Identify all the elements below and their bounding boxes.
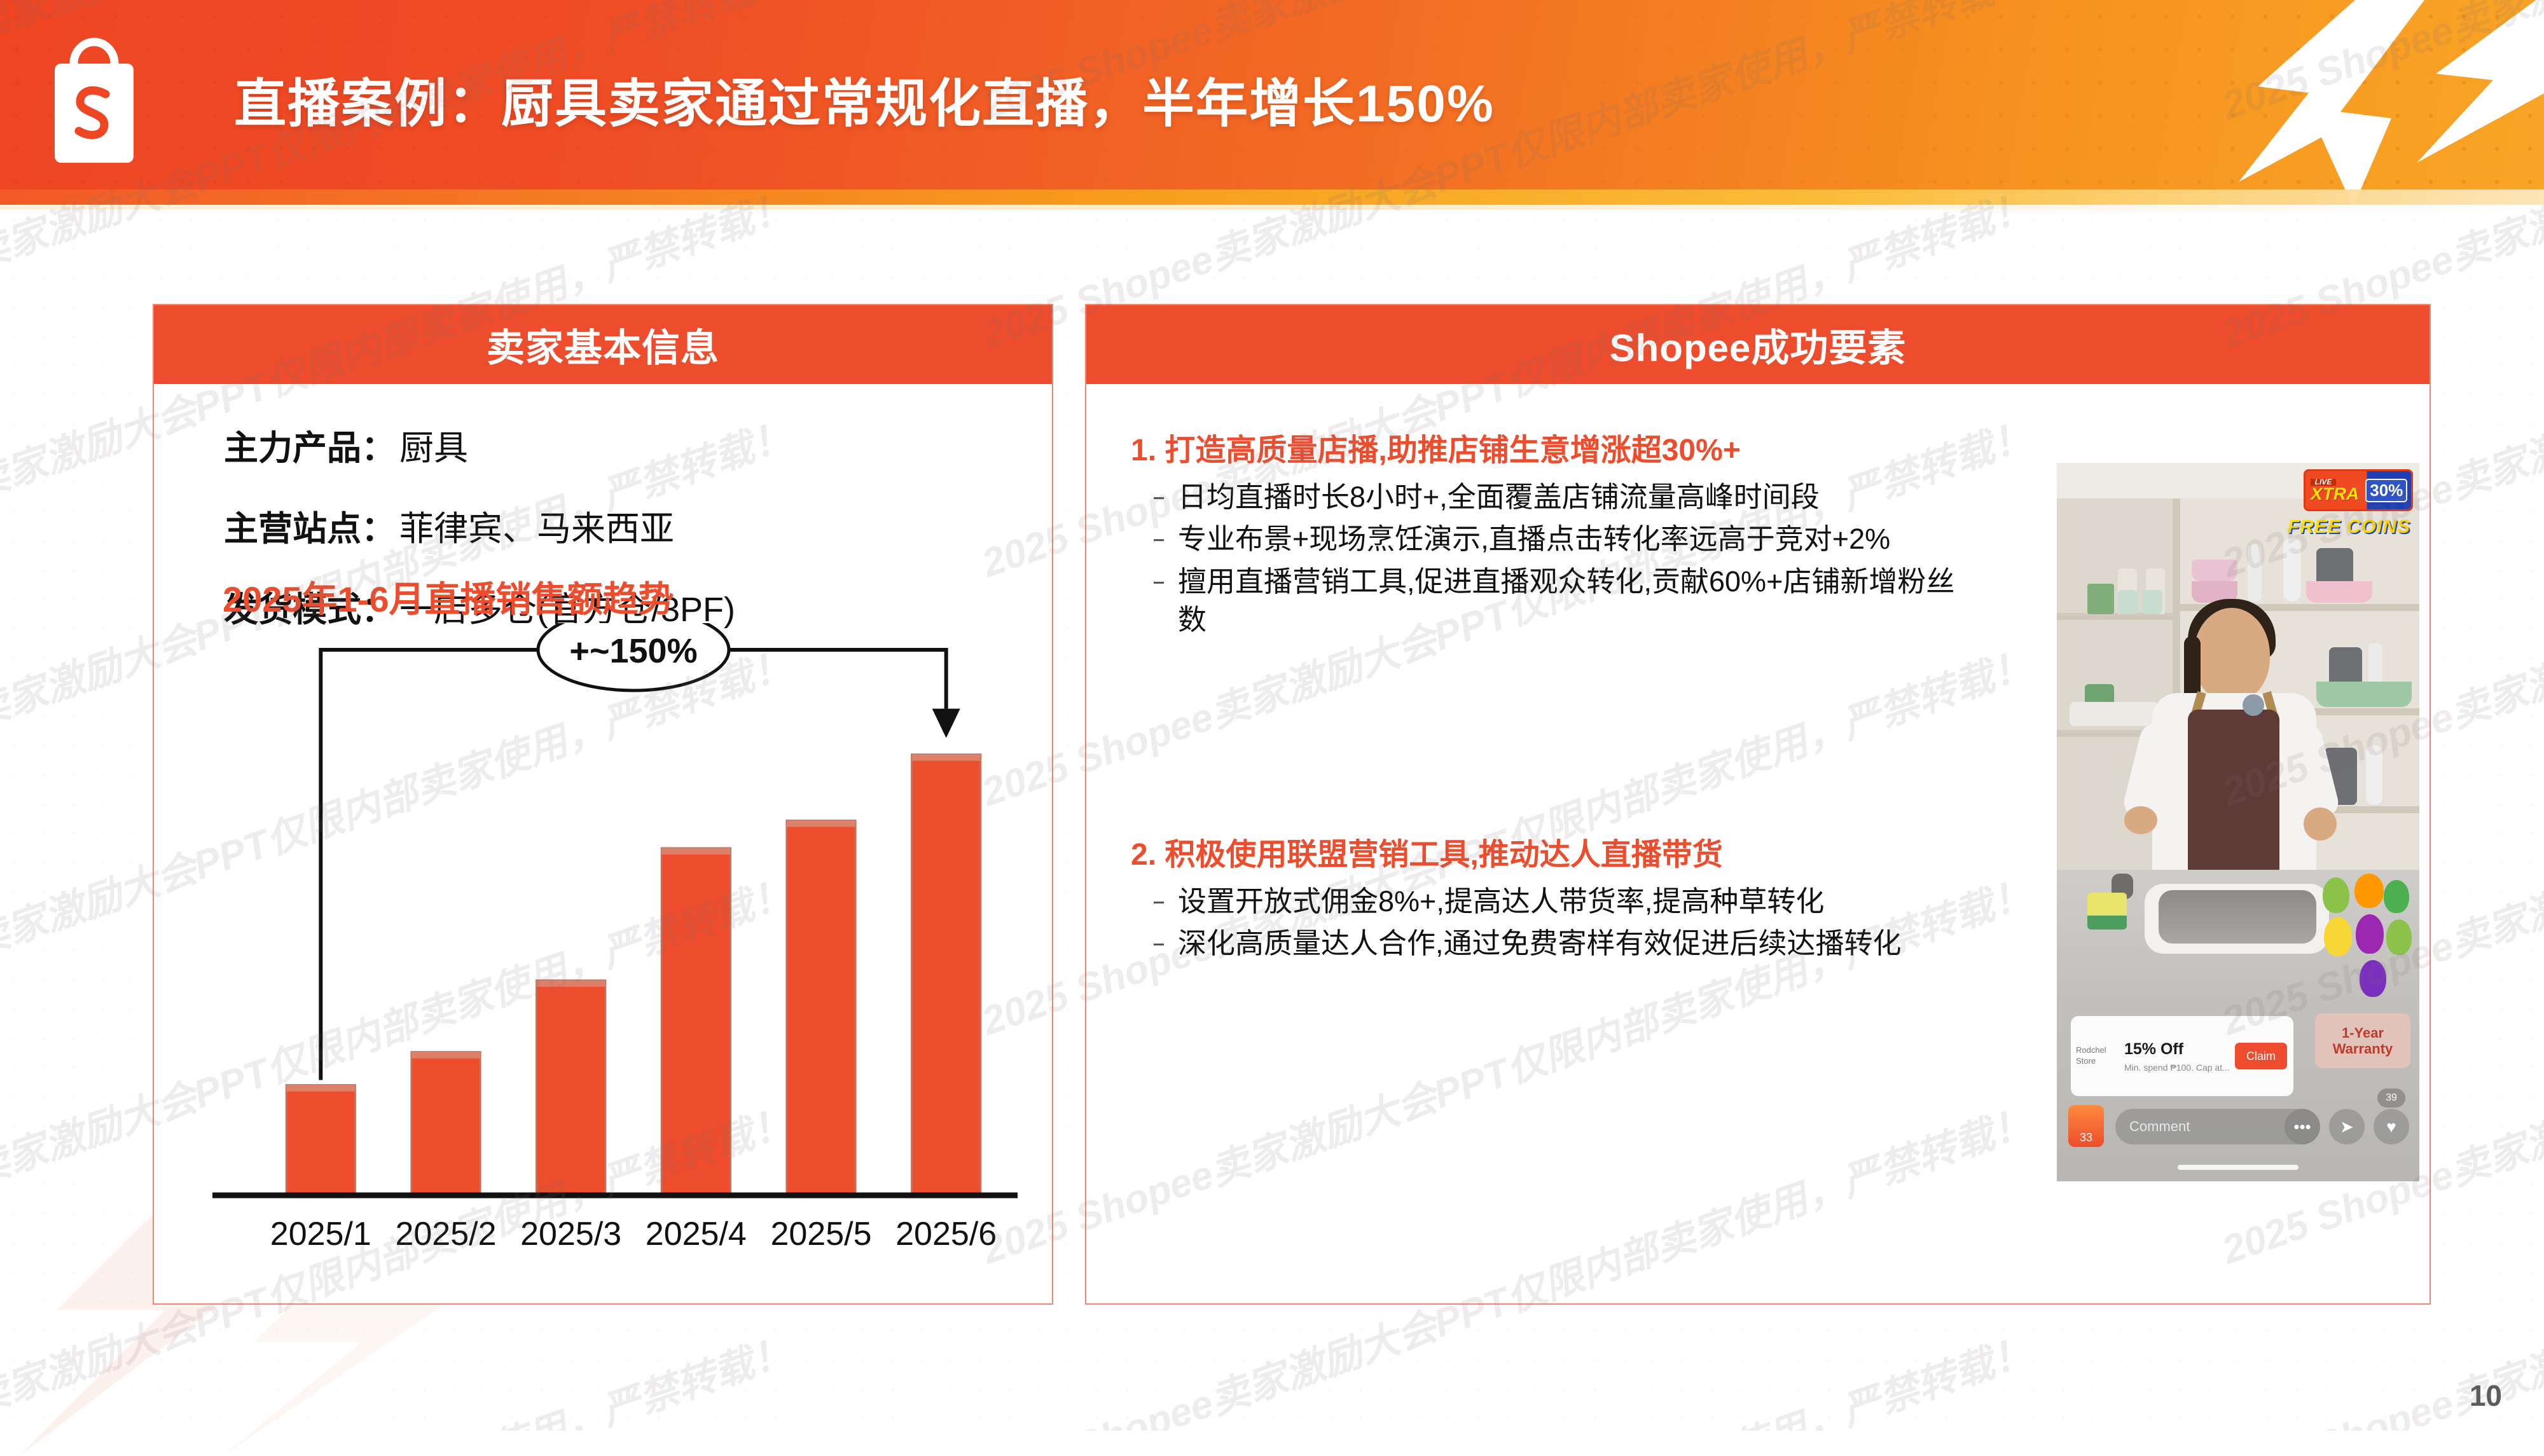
heart-icon[interactable]: ♥ [2374,1109,2409,1144]
home-indicator [2178,1165,2299,1170]
bar-cap [537,980,605,987]
live-xtra-badge: LIVE XTRA 30% [2304,469,2413,511]
share-arrow-icon[interactable]: ➤ [2329,1109,2365,1144]
presenter-face [2194,608,2270,702]
x-tick-label: 2025/6 [895,1216,997,1253]
xtra-label: XTRA [2311,484,2359,504]
watermark-text: 2025 Shopee卖家激励大会PPT仅限内部卖家使用，严禁转载！ [0,1319,798,1431]
info-row: 主力产品： 厨具 [224,420,735,470]
shopping-bag-icon[interactable]: 33 [2068,1105,2104,1147]
bar-cap [286,1085,355,1092]
x-tick-label: 2025/2 [395,1216,496,1253]
bar [912,755,981,1195]
kitchen-tray [2070,702,2159,726]
bar [286,1085,355,1195]
bar [661,848,730,1195]
kitchen-ladle [2366,745,2382,805]
bar [787,821,855,1195]
ellipsis-icon[interactable]: ••• [2285,1109,2320,1144]
growth-label: +~150% [569,632,697,670]
info-row: 主营站点： 菲律宾、马来西亚 [224,500,735,551]
list-item: 专业布景+现场烹饪演示,直播点击转化率远高于竞对+2% [1131,520,1977,558]
seller-info-card: 卖家基本信息 主力产品： 厨具 主营站点： 菲律宾、马来西亚 发货模式： 一店多… [153,304,1053,1305]
lightning-bolt-icon [2162,0,2544,207]
page-title: 直播案例：厨具卖家通过常规化直播，半年增长150% [234,61,1495,137]
success-section-2-title: 2. 积极使用联盟营销工具,推动达人直播带货 [1131,829,1977,874]
bar [537,980,605,1195]
warranty-line-2: Warranty [2333,1041,2393,1057]
success-section-1-title: 1. 打造高质量店播,助推店铺生意增涨超30%+ [1131,425,1977,469]
list-item: 日均直播时长8小时+,全面覆盖店铺流量高峰时间段 [1131,478,1977,516]
x-tick-label: 2025/5 [770,1216,871,1253]
colorful-kitchen-props [2320,877,2416,1030]
prop-item [2324,917,2352,956]
bar-chart-svg: 2025/12025/22025/32025/42025/52025/6+~15… [172,623,1049,1278]
kitchen-ladle [2283,538,2301,601]
like-count-badge: 39 [2377,1089,2405,1108]
bar-cap [411,1052,480,1059]
warranty-tag: 1-Year Warranty [2315,1013,2410,1068]
presenter-hand [2304,807,2337,841]
chart-title: 2025年1-6月直播销售额趋势 [223,571,674,622]
kitchen-cup [2142,590,2162,614]
prop-item [2386,919,2412,955]
prop-item [2356,914,2384,954]
seller-info-card-heading: 卖家基本信息 [154,305,1052,384]
sink-inner [2159,890,2316,944]
voucher-subtitle: Min. spend ₱100. Cap at... [2124,1062,2235,1073]
list-item: 设置开放式佣金8%+,提高达人带货率,提高种草转化 [1131,883,1977,921]
sponge-backing [2087,916,2127,930]
x-tick-label: 2025/1 [270,1216,371,1253]
info-value: 厨具 [399,420,468,470]
livestream-sales-bar-chart: 2025/12025/22025/32025/42025/52025/6+~15… [172,623,1049,1278]
warranty-line-1: 1-Year [2342,1025,2384,1041]
bar-cap [912,755,981,761]
x-tick-label: 2025/3 [520,1216,621,1253]
presenter-apron [2188,710,2279,886]
kitchen-spatula [2248,544,2262,601]
kitchen-cup [2118,590,2138,614]
voucher-details: 15% Off Min. spend ₱100. Cap at... [2124,1040,2235,1073]
shopee-bag-logo [39,24,149,169]
livestream-screenshot: LIVE XTRA 30% FREE COINS Rodchel Store 1… [2056,462,2421,1183]
info-value: 菲律宾、马来西亚 [399,500,674,551]
xtra-badge-text: LIVE XTRA [2305,479,2359,502]
bar-cap [787,821,855,827]
list-item: 擅用直播营销工具,促进直播观众转化,贡献60%+店铺新增粉丝数 [1131,563,1977,640]
free-coins-badge: FREE COINS [2288,516,2410,538]
prop-item [2323,877,2349,913]
success-factors-card-heading: Shopee成功要素 [1086,305,2430,384]
presenter-microphone [2243,694,2264,716]
bar [411,1052,480,1195]
page-number: 10 [2470,1378,2502,1413]
kitchen-pot [2306,581,2372,603]
growth-annotation: +~150% [321,623,960,1080]
info-label: 主力产品： [224,420,396,470]
presenter-hand [2124,806,2157,834]
success-section-1: 1. 打造高质量店播,助推店铺生意增涨超30%+ 日均直播时长8小时+,全面覆盖… [1131,425,1977,643]
livestream-bottom-bar: 33 Comment ••• ➤ ♥ 39 [2057,1080,2419,1181]
voucher-title: 15% Off [2124,1040,2235,1059]
voucher-store-name: Rodchel Store [2071,1045,2124,1067]
prop-item [2354,874,2384,908]
watermark-text: 2025 Shopee卖家激励大会PPT仅限内部卖家使用，严禁转载！ [2213,1319,2544,1431]
prop-item [2384,880,2409,913]
x-tick-label: 2025/4 [646,1216,747,1253]
prop-item [2360,960,2386,997]
kitchen-plant [2087,584,2114,614]
watermark-text: 2025 Shopee卖家激励大会PPT仅限内部卖家使用，严禁转载！ [973,1319,2038,1431]
header-underline-light [0,205,2544,210]
success-section-2-bullets: 设置开放式佣金8%+,提高达人带货率,提高种草转化 深化高质量达人合作,通过免费… [1131,883,1977,963]
list-item: 深化高质量达人合作,通过免费寄样有效促进后续达播转化 [1131,924,1977,963]
info-label: 主营站点： [224,500,396,551]
discount-badge: 30% [2365,479,2407,502]
bar-cap [661,848,730,855]
success-section-2: 2. 积极使用联盟营销工具,推动达人直播带货 设置开放式佣金8%+,提高达人带货… [1131,829,1977,967]
page-header-banner: 直播案例：厨具卖家通过常规化直播，半年增长150% [0,0,2544,210]
kitchen-bowl [2192,560,2237,581]
success-section-1-bullets: 日均直播时长8小时+,全面覆盖店铺流量高峰时间段 专业布景+现场烹饪演示,直播点… [1131,478,1977,639]
claim-button[interactable]: Claim [2235,1043,2287,1069]
kitchen-pot [2316,682,2412,707]
